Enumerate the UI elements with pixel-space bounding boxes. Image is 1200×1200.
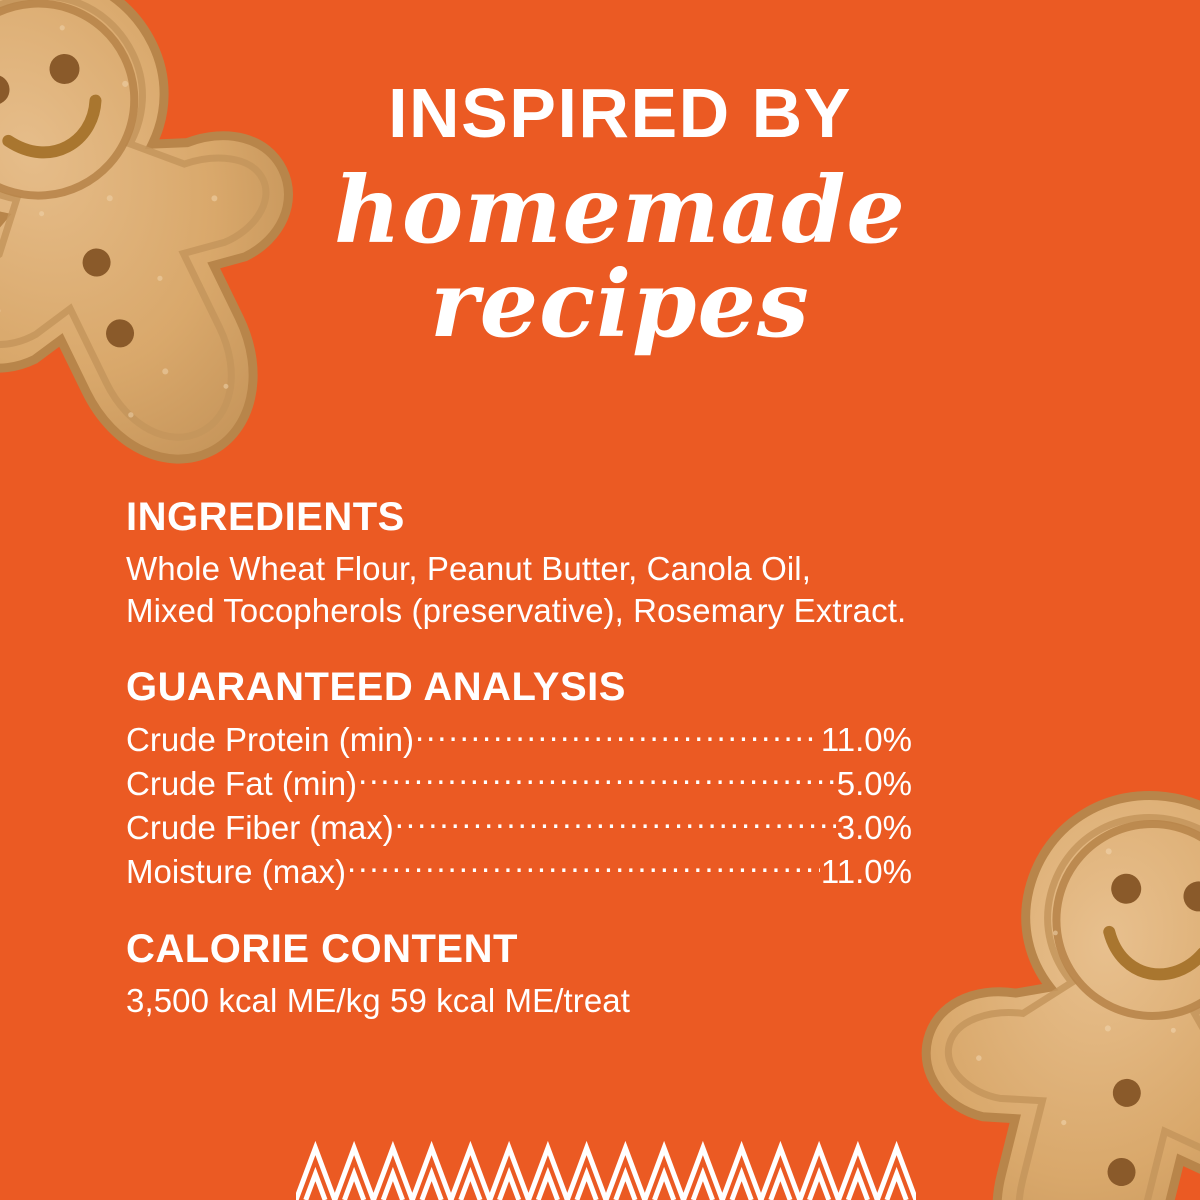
analysis-label: Crude Protein (min) (126, 719, 414, 762)
analysis-row: Crude Fiber (max) 3.0% (126, 806, 912, 850)
analysis-label: Crude Fiber (max) (126, 807, 394, 850)
guaranteed-analysis-rows: Crude Protein (min) 11.0% Crude Fat (min… (126, 718, 912, 894)
analysis-row: Crude Protein (min) 11.0% (126, 718, 912, 762)
calorie-content-heading: CALORIE CONTENT (126, 928, 1066, 970)
calorie-content-section: CALORIE CONTENT 3,500 kcal ME/kg 59 kcal… (126, 928, 1066, 1022)
guaranteed-analysis-section: GUARANTEED ANALYSIS Crude Protein (min) … (126, 666, 1066, 894)
dot-leader (358, 762, 836, 795)
guaranteed-analysis-heading: GUARANTEED ANALYSIS (126, 666, 1066, 708)
dot-leader (395, 806, 836, 839)
headline-script-recipes: recipes (300, 260, 940, 348)
analysis-row: Crude Fat (min) 5.0% (126, 762, 912, 806)
product-label-panel: INSPIRED BY homemade recipes INGREDIENTS… (0, 0, 1200, 1200)
ingredients-section: INGREDIENTS Whole Wheat Flour, Peanut Bu… (126, 496, 1066, 632)
nutrition-info-panel: INGREDIENTS Whole Wheat Flour, Peanut Bu… (126, 496, 1066, 1022)
zigzag-chevron-border (296, 1138, 916, 1200)
page-title: INSPIRED BY (300, 78, 940, 148)
ingredients-heading: INGREDIENTS (126, 496, 1066, 538)
analysis-label: Crude Fat (min) (126, 763, 357, 806)
headline-block: INSPIRED BY homemade recipes (300, 78, 940, 349)
analysis-value: 3.0% (837, 807, 912, 850)
analysis-row: Moisture (max) 11.0% (126, 850, 912, 894)
calorie-content-value: 3,500 kcal ME/kg 59 kcal ME/treat (126, 980, 1066, 1022)
analysis-value: 11.0% (821, 719, 912, 762)
analysis-value: 5.0% (837, 763, 912, 806)
headline-script-homemade: homemade (300, 166, 940, 254)
dot-leader (347, 850, 820, 883)
analysis-value: 11.0% (821, 851, 912, 894)
ingredients-line-2: Mixed Tocopherols (preservative), Rosema… (126, 590, 1066, 632)
dot-leader (415, 718, 820, 751)
analysis-label: Moisture (max) (126, 851, 346, 894)
ingredients-line-1: Whole Wheat Flour, Peanut Butter, Canola… (126, 548, 1066, 590)
